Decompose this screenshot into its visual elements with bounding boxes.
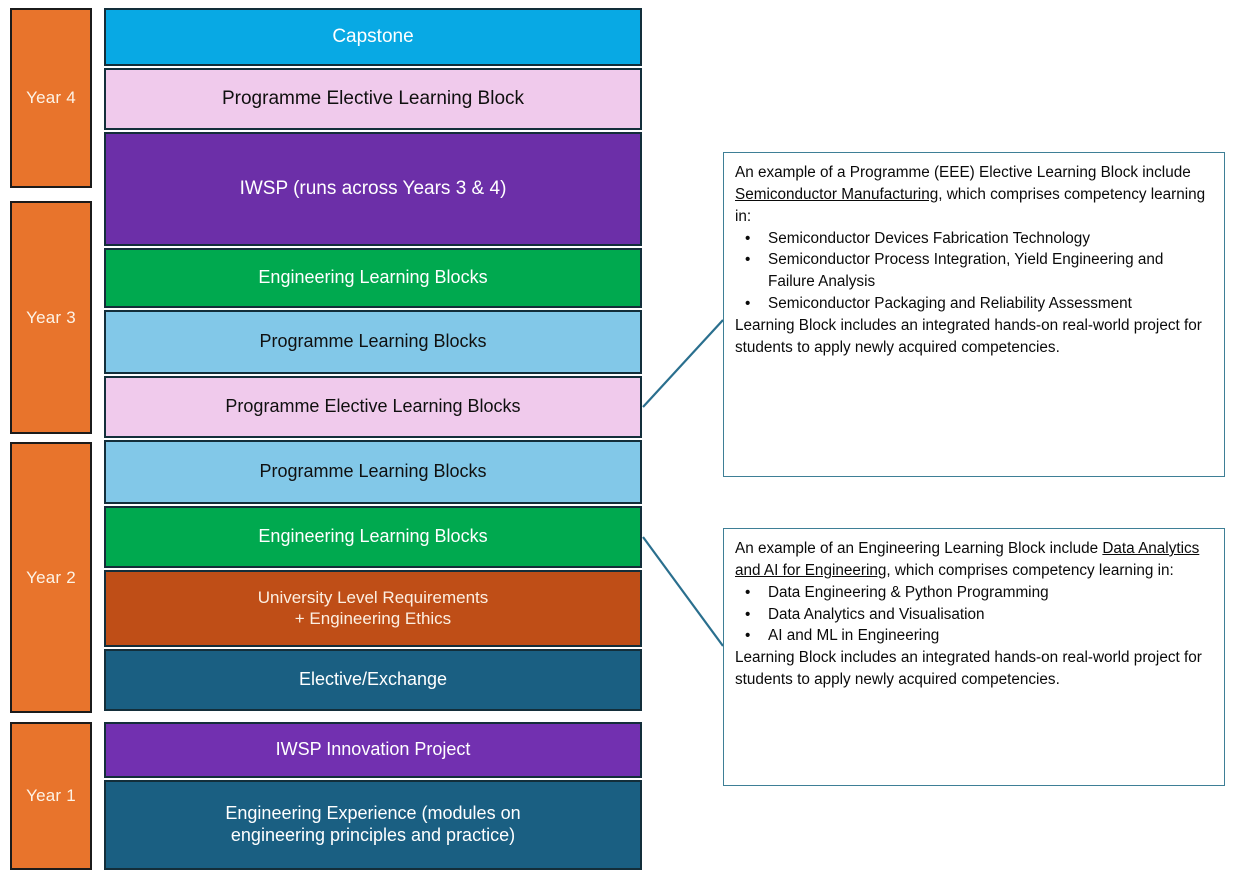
block-iwsp-years-3-and-4[interactable]: IWSP (runs across Years 3 & 4)	[104, 132, 642, 246]
callout-intro-underlined: Semiconductor Manufacturing	[735, 186, 938, 203]
block-label: Programme Elective Learning Block	[222, 87, 524, 110]
block-programme-learning-blocks-y2[interactable]: Programme Learning Blocks	[104, 440, 642, 504]
callout-bullet-list: Semiconductor Devices Fabrication Techno…	[735, 228, 1214, 315]
callout-intro-post: , which comprises competency learning in…	[886, 562, 1173, 579]
block-label: Engineering Learning Blocks	[258, 267, 487, 289]
block-elective-exchange[interactable]: Elective/Exchange	[104, 649, 642, 711]
block-programme-elective-learning-blocks-y3[interactable]: Programme Elective Learning Blocks	[104, 376, 642, 438]
callout-intro: An example of an Engineering Learning Bl…	[735, 538, 1214, 582]
callout-engineering-block-example: An example of an Engineering Learning Bl…	[723, 528, 1225, 786]
list-item: AI and ML in Engineering	[735, 625, 1214, 647]
block-label: IWSP Innovation Project	[276, 739, 471, 761]
curriculum-diagram: Year 4 Year 3 Year 2 Year 1 Capstone Pro…	[0, 0, 1244, 878]
block-label: University Level Requirements + Engineer…	[258, 588, 489, 629]
block-label: Capstone	[332, 25, 413, 48]
year-box-year-2: Year 2	[10, 442, 92, 713]
block-label: Engineering Experience (modules on engin…	[225, 803, 520, 847]
callout-programme-elective-example: An example of a Programme (EEE) Elective…	[723, 152, 1225, 477]
list-item: Data Analytics and Visualisation	[735, 604, 1214, 626]
block-engineering-experience[interactable]: Engineering Experience (modules on engin…	[104, 780, 642, 870]
year-box-year-3: Year 3	[10, 201, 92, 434]
callout-intro-pre: An example of an Engineering Learning Bl…	[735, 540, 1102, 557]
callout-intro-pre: An example of a Programme (EEE) Elective…	[735, 164, 1191, 181]
connector-line-engineering	[643, 537, 723, 646]
block-label: Elective/Exchange	[299, 669, 447, 691]
block-iwsp-innovation-project[interactable]: IWSP Innovation Project	[104, 722, 642, 778]
year-box-year-1: Year 1	[10, 722, 92, 870]
block-university-level-requirements[interactable]: University Level Requirements + Engineer…	[104, 570, 642, 647]
callout-outro: Learning Block includes an integrated ha…	[735, 647, 1214, 691]
block-engineering-learning-blocks-y3[interactable]: Engineering Learning Blocks	[104, 248, 642, 308]
list-item: Semiconductor Packaging and Reliability …	[735, 293, 1214, 315]
callout-outro: Learning Block includes an integrated ha…	[735, 315, 1214, 359]
block-label: Programme Elective Learning Blocks	[225, 396, 520, 418]
block-label: Engineering Learning Blocks	[258, 526, 487, 548]
block-label: Programme Learning Blocks	[259, 461, 486, 483]
year-box-year-4: Year 4	[10, 8, 92, 188]
year-label: Year 3	[26, 308, 76, 328]
list-item: Semiconductor Devices Fabrication Techno…	[735, 228, 1214, 250]
year-label: Year 2	[26, 568, 76, 588]
block-programme-elective-learning-block[interactable]: Programme Elective Learning Block	[104, 68, 642, 130]
year-label: Year 4	[26, 88, 76, 108]
block-label: Programme Learning Blocks	[259, 331, 486, 353]
year-label: Year 1	[26, 786, 76, 806]
block-engineering-learning-blocks-y2[interactable]: Engineering Learning Blocks	[104, 506, 642, 568]
connector-line-elective	[643, 320, 723, 407]
block-programme-learning-blocks-y3[interactable]: Programme Learning Blocks	[104, 310, 642, 374]
list-item: Semiconductor Process Integration, Yield…	[735, 249, 1214, 293]
callout-bullet-list: Data Engineering & Python Programming Da…	[735, 582, 1214, 648]
list-item: Data Engineering & Python Programming	[735, 582, 1214, 604]
block-capstone[interactable]: Capstone	[104, 8, 642, 66]
block-label: IWSP (runs across Years 3 & 4)	[240, 177, 507, 200]
callout-intro: An example of a Programme (EEE) Elective…	[735, 162, 1214, 228]
